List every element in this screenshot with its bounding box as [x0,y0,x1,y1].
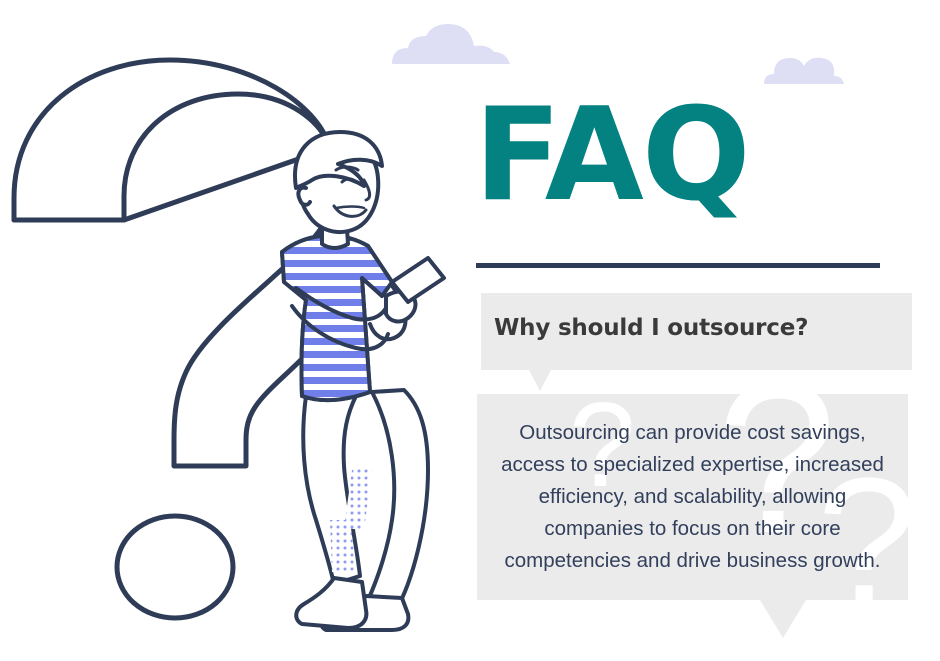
page-title: FAQ [474,92,749,220]
title-divider [476,263,880,268]
answer-bubble-tail [760,600,806,638]
question-mark-dot [117,516,233,618]
faq-answer-text: Outsourcing can provide cost savings, ac… [477,394,908,600]
cloud-right-icon [762,50,848,86]
shoe-front [296,578,366,628]
faq-answer-bubble: ? ? ? Outsourcing can provide cost savin… [477,394,908,600]
faq-page: FAQ Why should I outsource? ? ? ? Outsou… [0,0,940,661]
question-bubble-tail [529,370,551,391]
faq-question-bubble[interactable]: Why should I outsource? [481,293,912,370]
character-man [275,132,444,630]
illustration-man-with-question-mark [0,0,470,661]
faq-question-text: Why should I outsource? [494,315,808,341]
